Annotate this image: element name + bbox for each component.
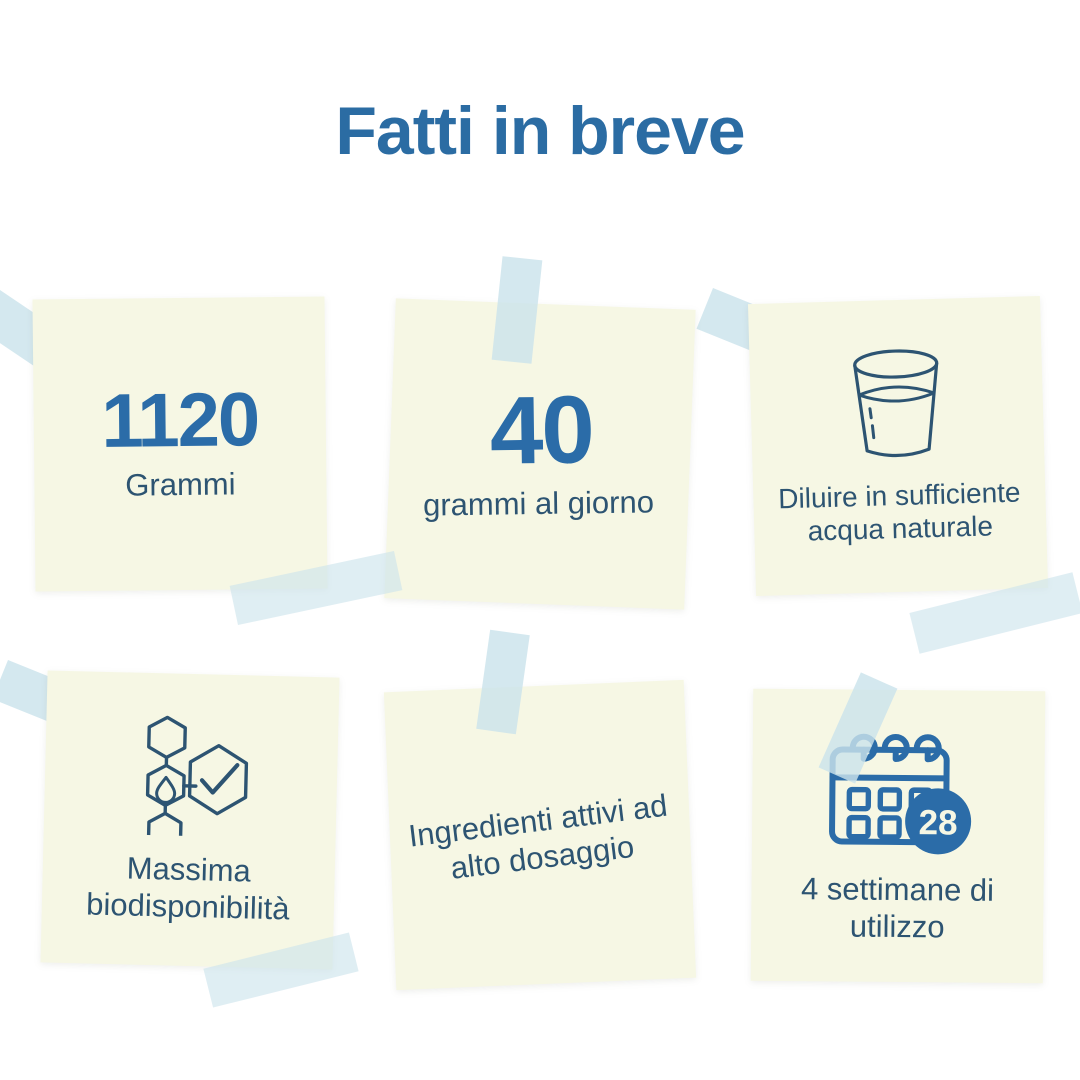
infographic-canvas: Fatti in breve 1120 Grammi 40 grammi al … — [0, 0, 1080, 1080]
fact-caption: grammi al giorno — [422, 485, 653, 525]
fact-card-biodisponibilita: Massima biodisponibilità — [40, 670, 339, 969]
calendar-icon: 28 — [822, 726, 975, 857]
fact-caption: Diluire in sufficiente acqua naturale — [765, 475, 1035, 549]
fact-caption: Massima biodisponibilità — [53, 849, 323, 929]
facts-grid: 1120 Grammi 40 grammi al giorno Diluire … — [30, 290, 1050, 1020]
molecule-check-icon — [127, 713, 256, 838]
fact-caption: Ingredienti attivi ad alto dosaggio — [399, 787, 682, 893]
fact-number: 40 — [489, 384, 593, 477]
fact-caption: Grammi — [125, 466, 236, 504]
fact-card-dose-giornaliera: 40 grammi al giorno — [384, 298, 695, 609]
badge-value: 28 — [918, 804, 957, 843]
fact-card-diluizione: Diluire in sufficiente acqua naturale — [748, 296, 1048, 596]
fact-caption: 4 settimane di utilizzo — [763, 871, 1032, 946]
fact-number: 1120 — [101, 384, 259, 458]
water-glass-icon — [843, 346, 950, 465]
fact-card-durata: 28 4 settimane di utilizzo — [751, 689, 1046, 984]
fact-card-grammi-totali: 1120 Grammi — [32, 296, 327, 591]
fact-card-ingredienti: Ingredienti attivi ad alto dosaggio — [384, 680, 696, 990]
page-title: Fatti in breve — [0, 92, 1080, 170]
